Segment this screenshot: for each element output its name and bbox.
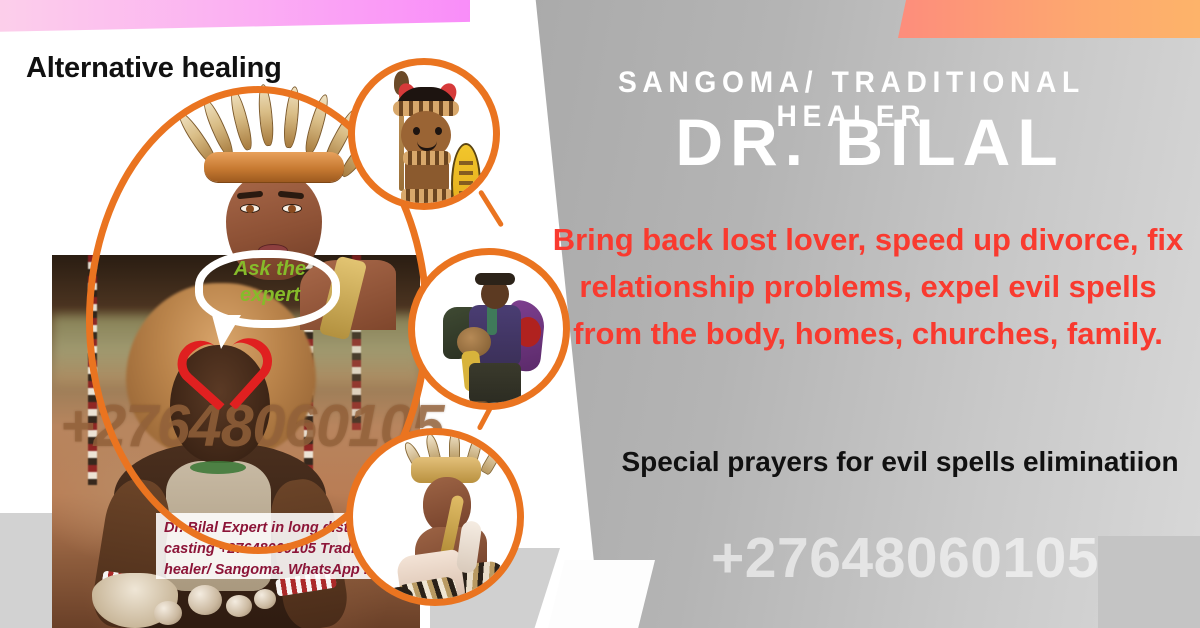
diviner-scarf bbox=[487, 305, 497, 335]
circle-image-crouching-dancer bbox=[346, 428, 524, 606]
circle-image-robed-diviner bbox=[408, 248, 570, 410]
healer-name-title: DR. BILAL bbox=[560, 106, 1180, 178]
feather-icon bbox=[480, 444, 505, 475]
circle-connector-line bbox=[478, 189, 504, 227]
diviner-hat bbox=[475, 273, 515, 285]
warrior-eye bbox=[435, 127, 442, 135]
diviner-foot bbox=[469, 401, 489, 410]
stone bbox=[254, 589, 276, 609]
stone bbox=[154, 601, 182, 625]
circle-image-zulu-warrior bbox=[348, 58, 500, 210]
stone bbox=[188, 585, 222, 615]
prayers-text: Special prayers for evil spells eliminat… bbox=[610, 440, 1190, 484]
warrior-eye bbox=[413, 127, 420, 135]
diviner-foot bbox=[501, 401, 521, 410]
stone bbox=[226, 595, 252, 617]
contact-phone-number: +27648060105 bbox=[620, 525, 1190, 591]
diviner-legs bbox=[469, 363, 521, 403]
warrior-skirt bbox=[401, 189, 453, 210]
pink-accent-strip bbox=[0, 0, 470, 32]
services-text: Bring back lost lover, speed up divorce,… bbox=[548, 216, 1188, 357]
flyer-canvas: Alternative healing Dr. Bilal E bbox=[0, 0, 1200, 628]
page-title: Alternative healing bbox=[26, 52, 282, 85]
warrior-fur-trim bbox=[403, 151, 451, 165]
orange-accent-strip bbox=[898, 0, 1200, 38]
shield-pattern bbox=[459, 161, 473, 205]
